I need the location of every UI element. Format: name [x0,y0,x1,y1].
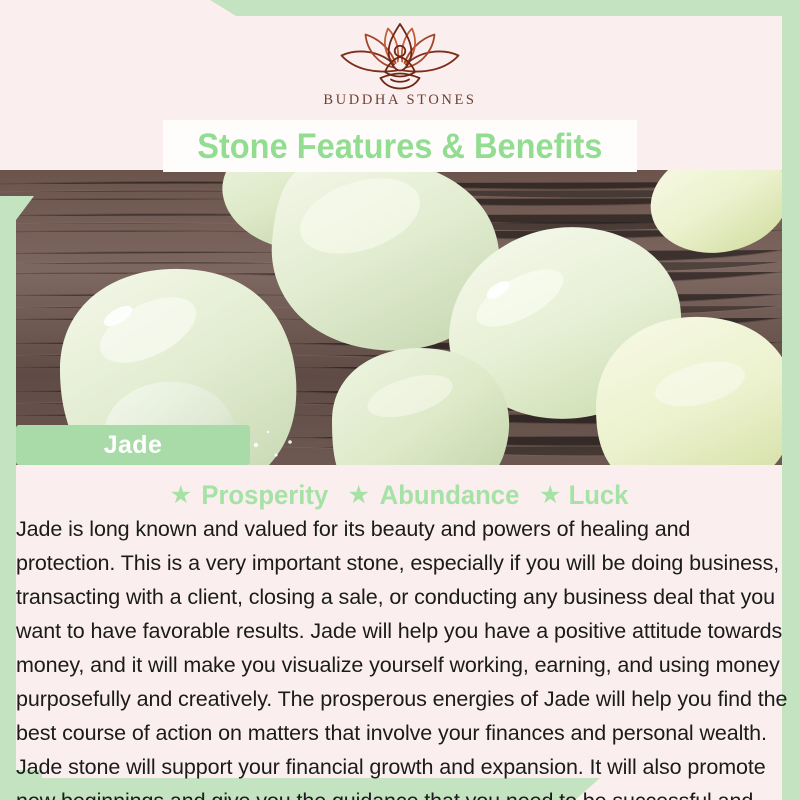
stone-name-label: Jade [16,425,250,465]
lotus-meditation-icon [325,18,475,90]
star-icon: ★ [348,483,370,508]
decorative-top-green-bar [0,0,800,16]
benefit-label: Abundance [380,482,520,509]
benefit-item: ★ Abundance [348,482,523,509]
stone-name-text: Jade [104,433,163,458]
stone-description-text: Jade is long known and valued for its be… [16,512,788,800]
stone-description: Jade is long known and valued for its be… [16,512,788,800]
brand-header: BUDDHA STONES [0,18,800,118]
benefit-item: ★ Prosperity [170,482,332,509]
benefit-label: Prosperity [201,482,328,509]
benefits-row: ★ Prosperity ★ Abundance ★ Luck [0,478,800,512]
title-banner: Stone Features & Benefits [163,120,637,172]
page-title: Stone Features & Benefits [197,129,602,164]
benefit-label: Luck [569,482,629,509]
product-info-card: BUDDHA STONES Stone Features & Benefits [0,0,800,800]
star-icon: ★ [170,483,192,508]
star-icon: ★ [539,483,561,508]
brand-name: BUDDHA STONES [323,92,476,109]
stone-photo [0,170,782,465]
benefit-item: ★ Luck [539,482,630,509]
